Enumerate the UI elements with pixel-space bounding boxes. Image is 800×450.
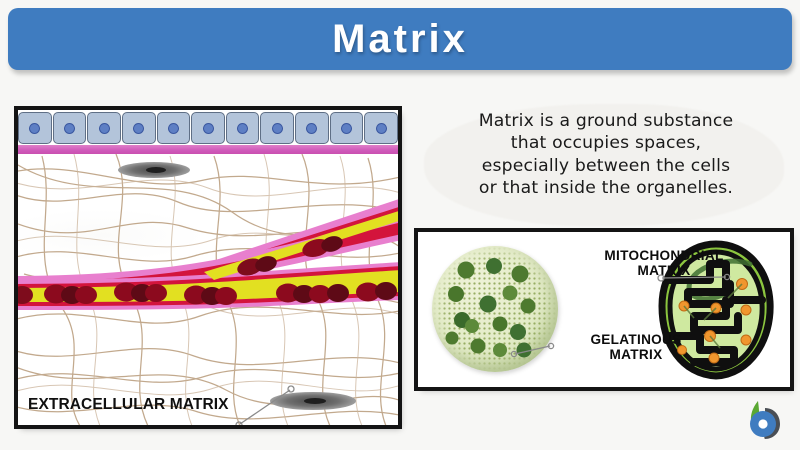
gelatinous-matrix-label-line1: GELATINOUS: [590, 332, 681, 347]
gelatinous-matrix-label-line2: MATRIX: [610, 347, 663, 362]
cell-nucleus-icon: [99, 123, 110, 134]
definition-line-2: that occupies spaces,: [420, 132, 792, 154]
cell-nucleus-icon: [203, 123, 214, 134]
epithelial-cell: [226, 112, 260, 144]
epithelial-cell: [330, 112, 364, 144]
gelatinous-matrix-label: GELATINOUS MATRIX: [546, 332, 726, 362]
extracellular-matrix-label: EXTRACELLULAR MATRIX: [28, 396, 229, 414]
epithelial-cell: [364, 112, 398, 144]
epithelial-cell: [260, 112, 294, 144]
definition-text: Matrix is a ground substance that occupi…: [420, 110, 792, 199]
definition-line-1: Matrix is a ground substance: [420, 110, 792, 132]
cell-nucleus-icon: [237, 123, 248, 134]
epithelial-cell: [18, 112, 52, 144]
cell-nucleus-icon: [376, 123, 387, 134]
cell-nucleus-icon: [341, 123, 352, 134]
mitochondrial-matrix-label-line1: MITOCHONDRIAL: [604, 248, 723, 263]
page-root: Matrix: [0, 0, 800, 450]
extracellular-matrix-panel: [18, 110, 398, 425]
cell-nucleus-icon: [272, 123, 283, 134]
cell-nucleus-icon: [306, 123, 317, 134]
matrix-types-panel: MITOCHONDRIAL MATRIX GELATINOUS MATRIX: [418, 232, 790, 387]
logo-inner-dot-icon: [758, 419, 767, 428]
page-header: Matrix: [8, 8, 792, 70]
epithelial-cell: [53, 112, 87, 144]
epithelial-cell: [157, 112, 191, 144]
cell-nucleus-icon: [168, 123, 179, 134]
gelatinous-matrix-leader-line: [510, 340, 556, 360]
epithelial-cell: [295, 112, 329, 144]
mitochondrial-matrix-leader-line: [656, 270, 732, 286]
definition-line-3: especially between the cells: [420, 155, 792, 177]
epithelial-cell: [191, 112, 225, 144]
cell-nucleus-icon: [29, 123, 40, 134]
cell-nucleus-icon: [133, 123, 144, 134]
epithelial-cell: [87, 112, 121, 144]
page-title: Matrix: [332, 19, 468, 59]
biologyonline-logo[interactable]: [745, 398, 785, 440]
basement-membrane: [18, 145, 398, 154]
definition-line-4: or that inside the organelles.: [420, 177, 792, 199]
epithelial-cell: [122, 112, 156, 144]
red-blood-cells: [18, 154, 398, 425]
epithelial-cell-row: [18, 110, 398, 144]
cell-nucleus-icon: [64, 123, 75, 134]
